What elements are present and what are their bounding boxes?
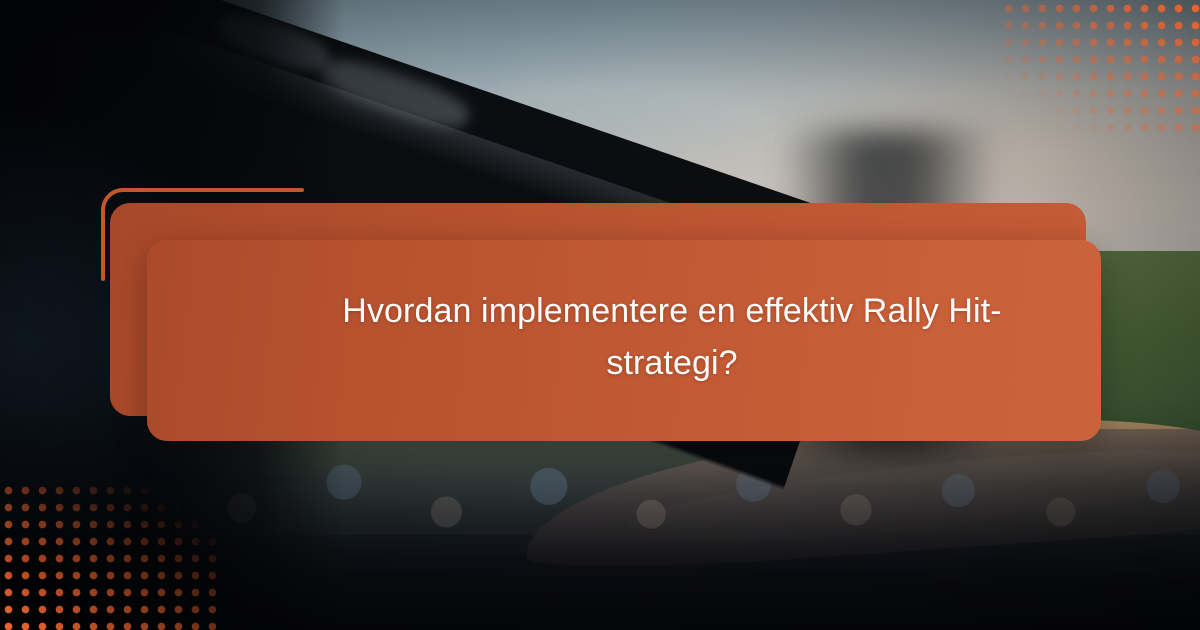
title-card: Hvordan implementere en effektiv Rally H… (147, 240, 1101, 441)
halftone-dot-grid-icon-bottom-left (0, 482, 216, 630)
og-image-canvas: Hvordan implementere en effektiv Rally H… (0, 0, 1200, 630)
halftone-dot-grid-icon-top-right (1000, 0, 1200, 138)
page-title: Hvordan implementere en effektiv Rally H… (312, 285, 1032, 389)
